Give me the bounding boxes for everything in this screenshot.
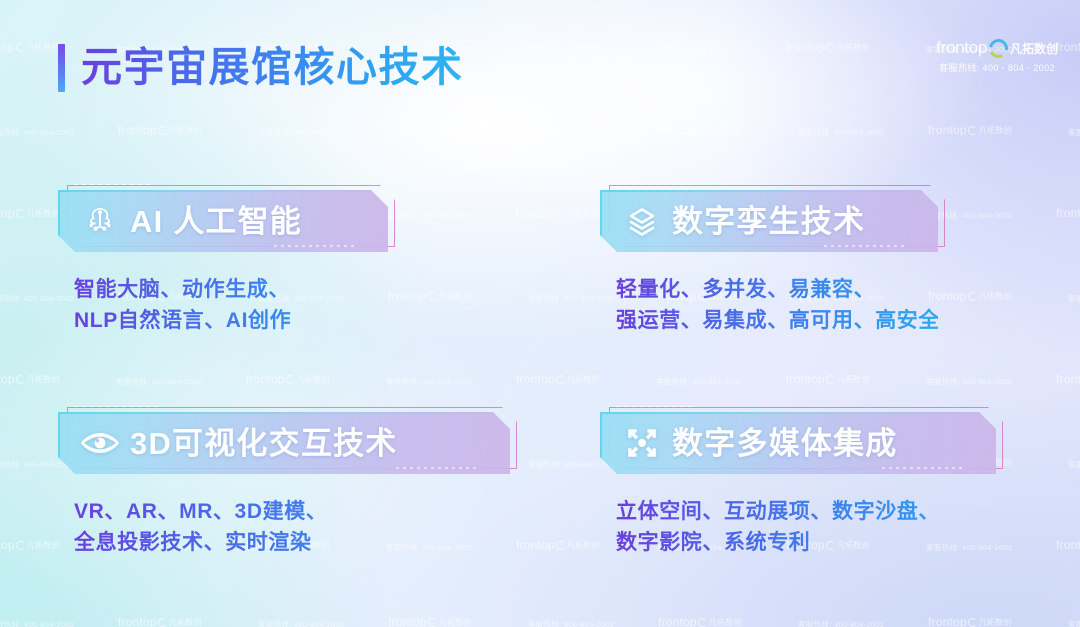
brain-icon	[78, 203, 122, 239]
card-banner-ticks	[824, 245, 905, 247]
card-description: 智能大脑、动作生成、 NLP自然语言、AI创作	[74, 274, 388, 336]
card-banner[interactable]: 数字孪生技术	[600, 190, 938, 252]
card-banner[interactable]: 3D可视化交互技术	[58, 412, 510, 474]
card-desc-line: VR、AR、MR、3D建模、	[74, 496, 510, 527]
card-title: 数字多媒体集成	[672, 428, 897, 459]
card-desc-line: 立体空间、互动展项、数字沙盘、	[616, 496, 996, 527]
converge-arrows-icon	[620, 425, 664, 461]
card-title: AI 人工智能	[130, 206, 302, 237]
card-bracket-bottom-left	[596, 246, 648, 260]
card-top-edge	[602, 412, 996, 414]
card-description: 轻量化、多并发、易兼容、 强运营、易集成、高可用、高安全	[616, 274, 938, 336]
card-banner-ticks	[396, 467, 477, 469]
eye-icon	[78, 429, 122, 457]
card-banner-wrap: 数字孪生技术	[600, 190, 938, 252]
card-banner-wrap: 3D可视化交互技术	[58, 412, 510, 474]
card-tick-marks	[616, 406, 996, 408]
card-desc-line: NLP自然语言、AI创作	[74, 305, 388, 336]
card-desc-line: 数字影院、系统专利	[616, 527, 996, 558]
card-desc-line: 轻量化、多并发、易兼容、	[616, 274, 938, 305]
card-bracket-bottom-left	[54, 246, 106, 260]
card-tick-marks	[74, 406, 510, 408]
card-desc-line: 强运营、易集成、高可用、高安全	[616, 305, 938, 336]
card-title: 3D可视化交互技术	[130, 428, 397, 459]
layers-icon	[620, 204, 664, 238]
card-banner[interactable]: 数字多媒体集成	[600, 412, 996, 474]
card-banner-wrap: AI 人工智能	[58, 190, 388, 252]
feature-card-multimedia[interactable]: 数字多媒体集成 立体空间、互动展项、数字沙盘、 数字影院、系统专利	[600, 406, 996, 558]
card-tick-marks	[74, 184, 388, 186]
feature-card-grid: AI 人工智能 智能大脑、动作生成、 NLP自然语言、AI创作	[0, 0, 1080, 627]
card-description: 立体空间、互动展项、数字沙盘、 数字影院、系统专利	[616, 496, 996, 558]
card-tick-marks	[616, 184, 938, 186]
card-description: VR、AR、MR、3D建模、 全息投影技术、实时渲染	[74, 496, 510, 558]
card-bracket-bottom-left	[54, 468, 106, 482]
card-banner-ticks	[274, 245, 355, 247]
feature-card-3d-visualization[interactable]: 3D可视化交互技术 VR、AR、MR、3D建模、 全息投影技术、实时渲染	[58, 406, 510, 558]
feature-card-digital-twin[interactable]: 数字孪生技术 轻量化、多并发、易兼容、 强运营、易集成、高可用、高安全	[600, 184, 938, 336]
card-title: 数字孪生技术	[672, 206, 865, 237]
card-bracket-bottom-left	[596, 468, 648, 482]
card-banner[interactable]: AI 人工智能	[58, 190, 388, 252]
card-banner-wrap: 数字多媒体集成	[600, 412, 996, 474]
card-desc-line: 全息投影技术、实时渲染	[74, 527, 510, 558]
card-desc-line: 智能大脑、动作生成、	[74, 274, 388, 305]
card-top-edge	[60, 412, 510, 414]
card-banner-ticks	[882, 467, 963, 469]
feature-card-ai[interactable]: AI 人工智能 智能大脑、动作生成、 NLP自然语言、AI创作	[58, 184, 388, 336]
